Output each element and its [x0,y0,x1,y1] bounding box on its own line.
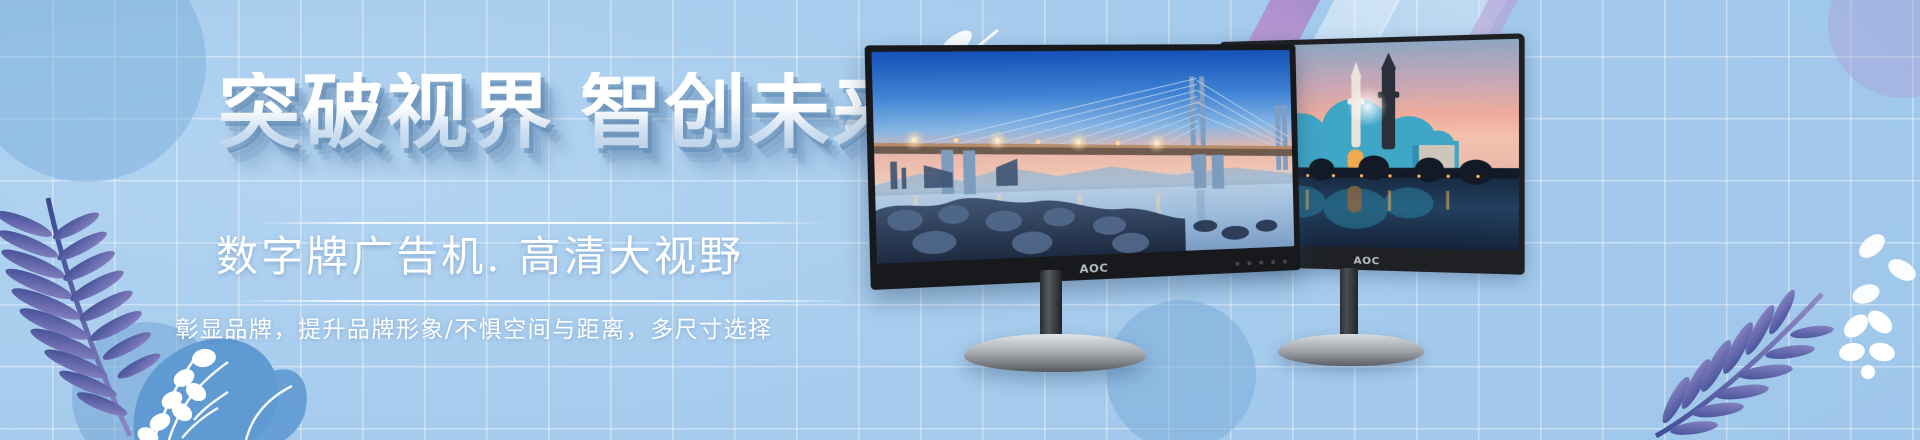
monitor-front: AOC [880,28,1300,368]
tagline: 彰显品牌，提升品牌形象/不惧空间与距离，多尺寸选择 [0,310,900,344]
promo-banner: 突破视界智创未来 数字牌广告机. 高清大视野 彰显品牌，提升品牌形象/不惧空间与… [0,0,1920,440]
control-dot[interactable] [1247,261,1251,265]
copy-block: 突破视界智创未来 数字牌广告机. 高清大视野 彰显品牌，提升品牌形象/不惧空间与… [0,0,900,440]
monitor-front-screen [872,50,1295,264]
monitor-front-bezel: AOC [865,44,1301,290]
divider-top [256,222,828,224]
product-imagery: AOC [880,0,1920,440]
brand-logo-back: AOC [1353,255,1379,267]
divider-bottom [232,300,852,302]
headline-part-1: 突破视界 [218,65,554,160]
control-dot[interactable] [1235,262,1239,266]
control-dot[interactable] [1271,260,1275,264]
monitor-front-control-dots[interactable] [1235,260,1286,266]
control-dot[interactable] [1259,261,1263,265]
page-title: 突破视界智创未来 [218,72,916,154]
brand-logo-front: AOC [1079,261,1108,276]
monitor-back-stand-neck [1340,268,1358,340]
subtitle: 数字牌广告机. 高清大视野 [0,232,900,282]
control-dot[interactable] [1283,260,1287,264]
monitor-front-stand-neck [1040,270,1062,342]
monitor-front-stand-base [964,334,1146,372]
